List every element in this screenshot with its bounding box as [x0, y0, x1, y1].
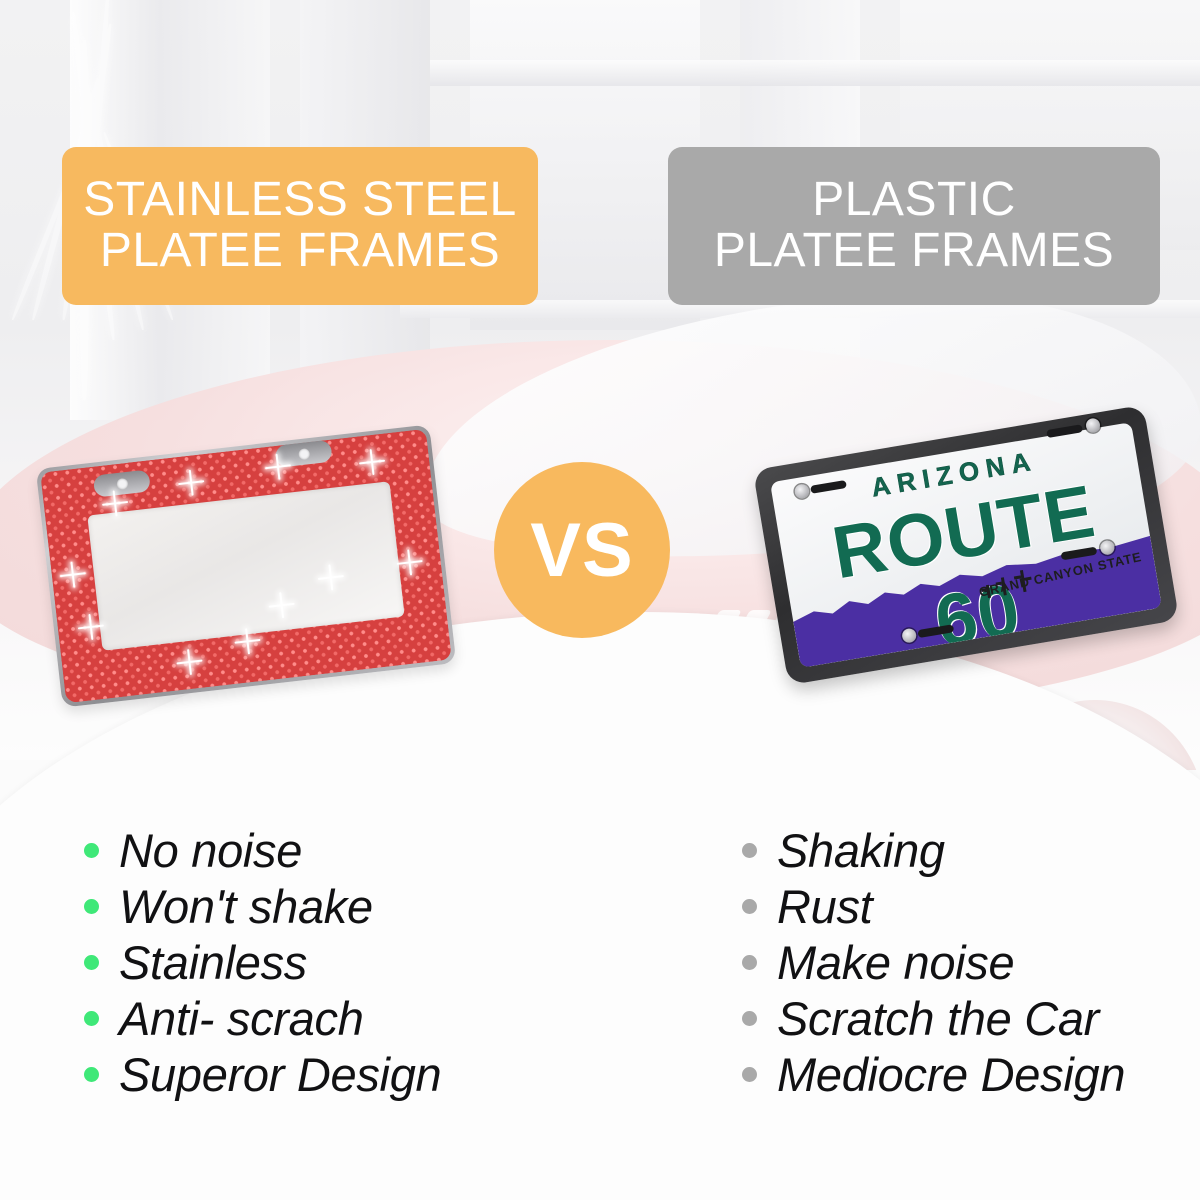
badge-right-line2: PLATEE FRAMES: [702, 226, 1126, 277]
list-item: Won't shake: [84, 878, 441, 934]
list-item: Scratch the Car: [742, 990, 1125, 1046]
bullet-check-icon: [84, 843, 99, 858]
badge-left-line1: STAINLESS STEEL: [71, 175, 528, 226]
list-item-label: No noise: [119, 823, 302, 878]
list-item: Superor Design: [84, 1046, 441, 1102]
header-badge-stainless-steel: STAINLESS STEEL PLATEE FRAMES: [62, 147, 538, 305]
list-item: Anti- scrach: [84, 990, 441, 1046]
bullet-check-icon: [84, 899, 99, 914]
comparison-infographic: STAINLESS STEEL PLATEE FRAMES PLASTIC PL…: [0, 0, 1200, 1200]
list-item-label: Mediocre Design: [777, 1047, 1125, 1102]
bullet-dot-icon: [742, 955, 757, 970]
product-plastic-plate-frame: ARIZONA ROUTE 60 GRAND CANYON STATE: [768, 436, 1178, 698]
header-badge-plastic: PLASTIC PLATEE FRAMES: [668, 147, 1160, 305]
bullet-dot-icon: [742, 843, 757, 858]
list-item-label: Won't shake: [119, 879, 373, 934]
list-item: Rust: [742, 878, 1125, 934]
list-item: No noise: [84, 822, 441, 878]
bullet-dot-icon: [742, 1011, 757, 1026]
list-item: Make noise: [742, 934, 1125, 990]
list-item-label: Superor Design: [119, 1047, 441, 1102]
badge-right-line1: PLASTIC: [702, 175, 1126, 226]
bullet-check-icon: [84, 1011, 99, 1026]
list-item-label: Stainless: [119, 935, 307, 990]
badge-left-line2: PLATEE FRAMES: [71, 226, 528, 277]
list-item-label: Shaking: [777, 823, 945, 878]
bullet-check-icon: [84, 1067, 99, 1082]
list-item: Mediocre Design: [742, 1046, 1125, 1102]
drawbacks-list-plastic: Shaking Rust Make noise Scratch the Car …: [742, 822, 1125, 1102]
versus-badge: VS: [494, 462, 670, 638]
benefits-list-stainless: No noise Won't shake Stainless Anti- scr…: [84, 822, 441, 1102]
bullet-dot-icon: [742, 1067, 757, 1082]
list-item-label: Anti- scrach: [119, 991, 364, 1046]
bullet-check-icon: [84, 955, 99, 970]
list-item: Stainless: [84, 934, 441, 990]
product-rhinestone-frame: [48, 440, 448, 710]
list-item-label: Rust: [777, 879, 872, 934]
list-item-label: Scratch the Car: [777, 991, 1099, 1046]
versus-label: VS: [530, 507, 633, 594]
bullet-dot-icon: [742, 899, 757, 914]
background-beam: [430, 60, 1200, 86]
list-item: Shaking: [742, 822, 1125, 878]
list-item-label: Make noise: [777, 935, 1014, 990]
